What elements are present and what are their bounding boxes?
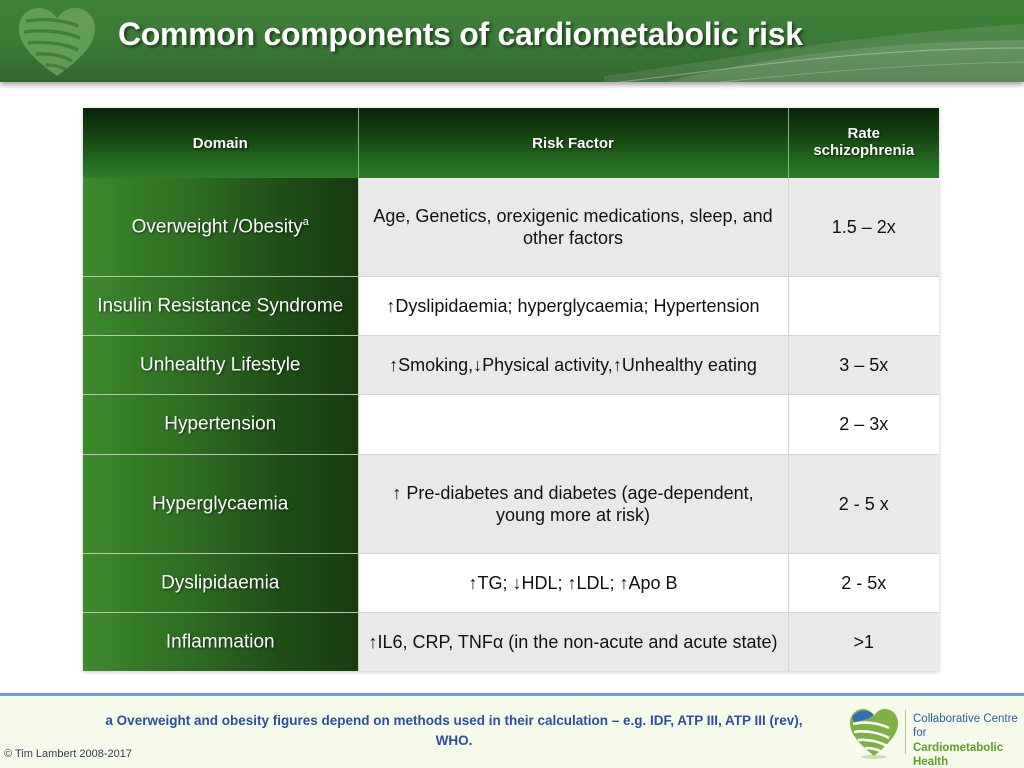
column-header-rate-line2: schizophrenia [795, 143, 934, 160]
table-header-row: Domain Risk Factor Rate schizophrenia [83, 108, 939, 178]
domain-footnote-marker: a [303, 216, 309, 228]
column-header-rate-schizophrenia: Rate schizophrenia [788, 108, 939, 178]
cell-domain: Hyperglycaemia [83, 454, 358, 554]
domain-label: Overweight /Obesity [132, 216, 303, 237]
cell-risk-factor: ↑Dyslipidaemia; hyperglycaemia; Hyperten… [358, 277, 788, 336]
risk-table-container: Domain Risk Factor Rate schizophrenia Ov… [83, 108, 939, 671]
cell-risk-factor: ↑TG; ↓HDL; ↑LDL; ↑Apo B [358, 554, 788, 613]
domain-label: Insulin Resistance Syndrome [97, 295, 343, 316]
cell-rate: 2 – 3x [788, 395, 939, 454]
domain-label: Hyperglycaemia [152, 493, 288, 514]
cell-domain: Dyslipidaemia [83, 554, 358, 613]
logo-line-1: Collaborative Centre for [913, 712, 1024, 741]
column-header-domain: Domain [83, 108, 358, 178]
slide-header-banner: Common components of cardiometabolic ris… [0, 0, 1024, 82]
domain-label: Inflammation [166, 631, 275, 652]
slide-canvas: Common components of cardiometabolic ris… [0, 0, 1024, 768]
cell-risk-factor: ↑IL6, CRP, TNFα (in the non-acute and ac… [358, 613, 788, 671]
cell-rate: >1 [788, 613, 939, 671]
cell-domain: Insulin Resistance Syndrome [83, 277, 358, 336]
column-header-risk-factor: Risk Factor [358, 108, 788, 178]
page-title: Common components of cardiometabolic ris… [118, 16, 1008, 53]
cell-rate: 2 - 5 x [788, 454, 939, 554]
table-row: Insulin Resistance Syndrome ↑Dyslipidaem… [83, 277, 939, 336]
cell-domain: Inflammation [83, 613, 358, 671]
table-row: Hyperglycaemia ↑ Pre-diabetes and diabet… [83, 454, 939, 554]
table-row: Overweight /Obesitya Age, Genetics, orex… [83, 178, 939, 277]
collaborative-centre-logo: Collaborative Centre for Cardiometabolic… [847, 702, 1022, 764]
footnote-text: a Overweight and obesity figures depend … [96, 711, 812, 750]
cell-rate [788, 277, 939, 336]
logo-divider [905, 710, 906, 754]
table-row: Hypertension 2 – 3x [83, 395, 939, 454]
heart-leaf-logo-icon [14, 4, 100, 80]
domain-label: Hypertension [164, 413, 276, 434]
table-body: Overweight /Obesitya Age, Genetics, orex… [83, 178, 939, 671]
cell-domain: Overweight /Obesitya [83, 178, 358, 277]
cell-risk-factor: Age, Genetics, orexigenic medications, s… [358, 178, 788, 277]
table-row: Dyslipidaemia ↑TG; ↓HDL; ↑LDL; ↑Apo B 2 … [83, 554, 939, 613]
cell-domain: Unhealthy Lifestyle [83, 336, 358, 395]
cardiometabolic-risk-table: Domain Risk Factor Rate schizophrenia Ov… [83, 108, 939, 671]
slide-footer: a Overweight and obesity figures depend … [0, 693, 1024, 768]
domain-label: Unhealthy Lifestyle [140, 354, 301, 375]
logo-text: Collaborative Centre for Cardiometabolic… [913, 712, 1024, 768]
cell-risk-factor: ↑Smoking,↓Physical activity,↑Unhealthy e… [358, 336, 788, 395]
cell-rate: 2 - 5x [788, 554, 939, 613]
cell-rate: 1.5 – 2x [788, 178, 939, 277]
table-row: Unhealthy Lifestyle ↑Smoking,↓Physical a… [83, 336, 939, 395]
table-header: Domain Risk Factor Rate schizophrenia [83, 108, 939, 178]
copyright-text: © Tim Lambert 2008-2017 [4, 748, 132, 760]
column-header-rate-line1: Rate [795, 126, 934, 143]
cell-risk-factor [358, 395, 788, 454]
cell-domain: Hypertension [83, 395, 358, 454]
cell-risk-factor: ↑ Pre-diabetes and diabetes (age-depende… [358, 454, 788, 554]
cell-rate: 3 – 5x [788, 336, 939, 395]
logo-line-2: Cardiometabolic Health [913, 741, 1024, 768]
domain-label: Dyslipidaemia [161, 572, 279, 593]
table-row: Inflammation ↑IL6, CRP, TNFα (in the non… [83, 613, 939, 671]
cc-heart-leaf-logo-icon [847, 706, 901, 760]
